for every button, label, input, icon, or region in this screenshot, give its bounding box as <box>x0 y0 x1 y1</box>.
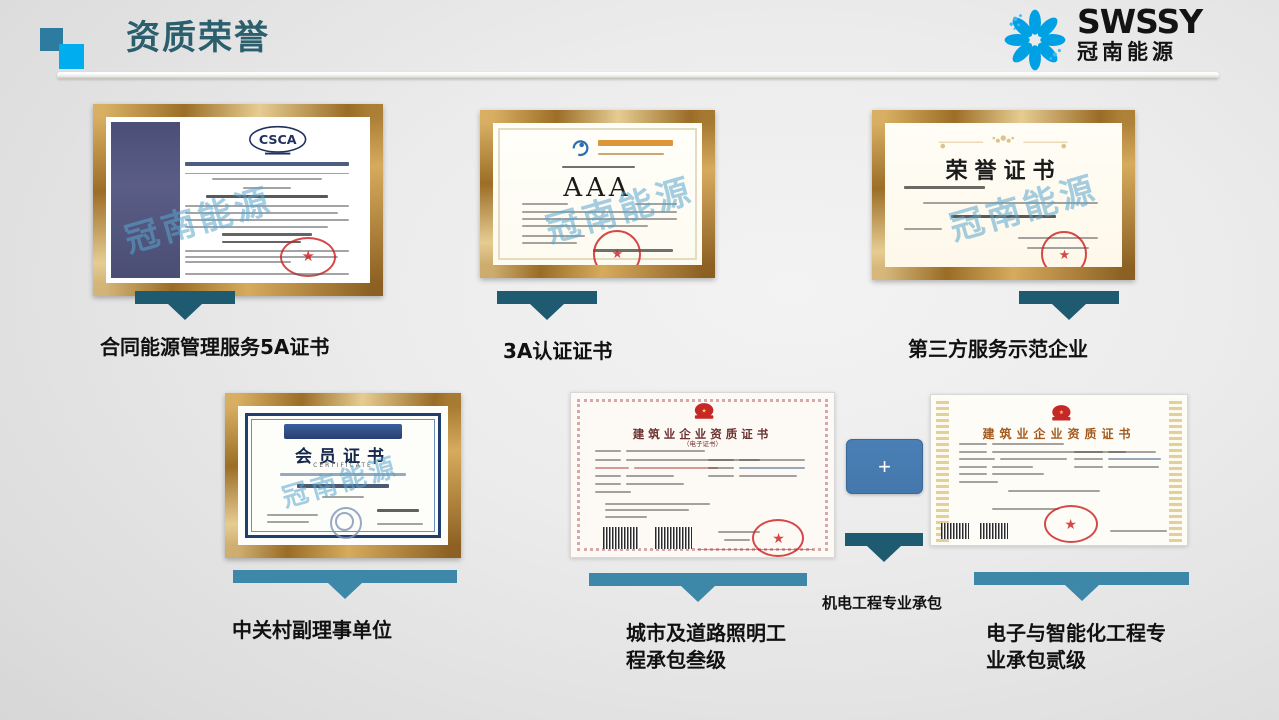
arrow-banner-cert-5a <box>135 291 235 320</box>
qr-code-icon <box>980 523 1008 540</box>
national-emblem-icon: ★ <box>1046 403 1077 424</box>
caption-cert-member: 中关村副理事单位 <box>232 617 392 644</box>
qr-code-icon <box>655 527 692 548</box>
caption-cert-electronic-intelligent: 电子与智能化工程专 业承包贰级 <box>986 620 1166 674</box>
certificate-image-cert-road-lighting[interactable]: ★ 建筑业企业资质证书 （电子证书） ★ <box>570 392 835 558</box>
caption-cert-3a: 3A认证证书 <box>503 338 612 365</box>
certificate-image-cert-third-party[interactable]: 荣誉证书 ★ 冠南能源 <box>872 110 1135 280</box>
qr-code-icon <box>603 527 640 548</box>
honor-title: 荣誉证书 <box>945 153 1061 185</box>
caption-line-1: 电子与智能化工程专 <box>986 620 1166 647</box>
svg-text:★: ★ <box>1059 409 1064 416</box>
qualification-subtitle: （电子证书） <box>683 438 722 448</box>
red-star-seal-icon: ★ <box>302 249 315 264</box>
qr-code-icon <box>941 523 969 540</box>
company-logo: SWSSY 冠南能源 <box>999 4 1269 74</box>
svg-text:CSCA: CSCA <box>259 131 297 146</box>
logo-brand-cn: 冠南能源 <box>1077 39 1267 65</box>
caption-line-2: 业承包贰级 <box>986 647 1166 674</box>
floral-ornament-icon <box>899 130 1108 150</box>
red-star-seal-icon: ★ <box>772 531 785 545</box>
arrow-banner-cert-3a <box>497 291 597 320</box>
certificate-image-cert-5a[interactable]: CSCA ★ 冠南能源 <box>93 104 383 296</box>
arrow-banner-cert-electronic-intelligent <box>974 572 1189 601</box>
certificate-image-cert-3a[interactable]: AAA ★ 冠南能源 <box>480 110 715 278</box>
certificate-image-cert-electronic-intelligent[interactable]: ★ 建筑业企业资质证书 ★ <box>930 394 1188 546</box>
ribbon-banner <box>284 424 402 439</box>
arrow-banner-electromechanical <box>845 533 923 562</box>
red-star-seal-icon: ★ <box>611 247 623 260</box>
arrow-banner-cert-member <box>233 570 457 599</box>
csca-logo-icon: CSCA <box>246 124 309 157</box>
caption-cert-third-party: 第三方服务示范企业 <box>908 336 1088 363</box>
credit-org-icon <box>568 137 593 160</box>
swssy-droplet-icon <box>999 7 1071 73</box>
qualification-title: 建筑业企业资质证书 <box>982 425 1135 442</box>
caption-cert-road-lighting: 城市及道路照明工 程承包叁级 <box>626 620 786 674</box>
caption-electromechanical: 机电工程专业承包 <box>822 593 942 613</box>
member-title-en: CERTIFICATE <box>313 462 373 469</box>
caption-line-1: 城市及道路照明工 <box>626 620 786 647</box>
caption-cert-5a: 合同能源管理服务5A证书 <box>100 334 329 361</box>
header-square-light <box>59 44 84 69</box>
red-star-seal-icon: ★ <box>1064 517 1077 531</box>
credit-grade: AAA <box>563 173 631 203</box>
caption-line-2: 程承包叁级 <box>626 647 786 674</box>
svg-text:★: ★ <box>701 408 706 415</box>
logo-brand-en: SWSSY <box>1077 5 1267 39</box>
national-emblem-icon: ★ <box>687 401 721 422</box>
page-title: 资质荣誉 <box>126 18 270 59</box>
certificate-image-cert-member[interactable]: 会员证书 CERTIFICATE 冠南能源 <box>225 393 461 558</box>
red-star-seal-icon: ★ <box>1059 248 1071 261</box>
arrow-banner-cert-road-lighting <box>589 573 807 602</box>
slide-canvas: 资质荣誉 <box>0 0 1279 720</box>
add-button[interactable]: + <box>846 439 923 494</box>
arrow-banner-cert-third-party <box>1019 291 1119 320</box>
